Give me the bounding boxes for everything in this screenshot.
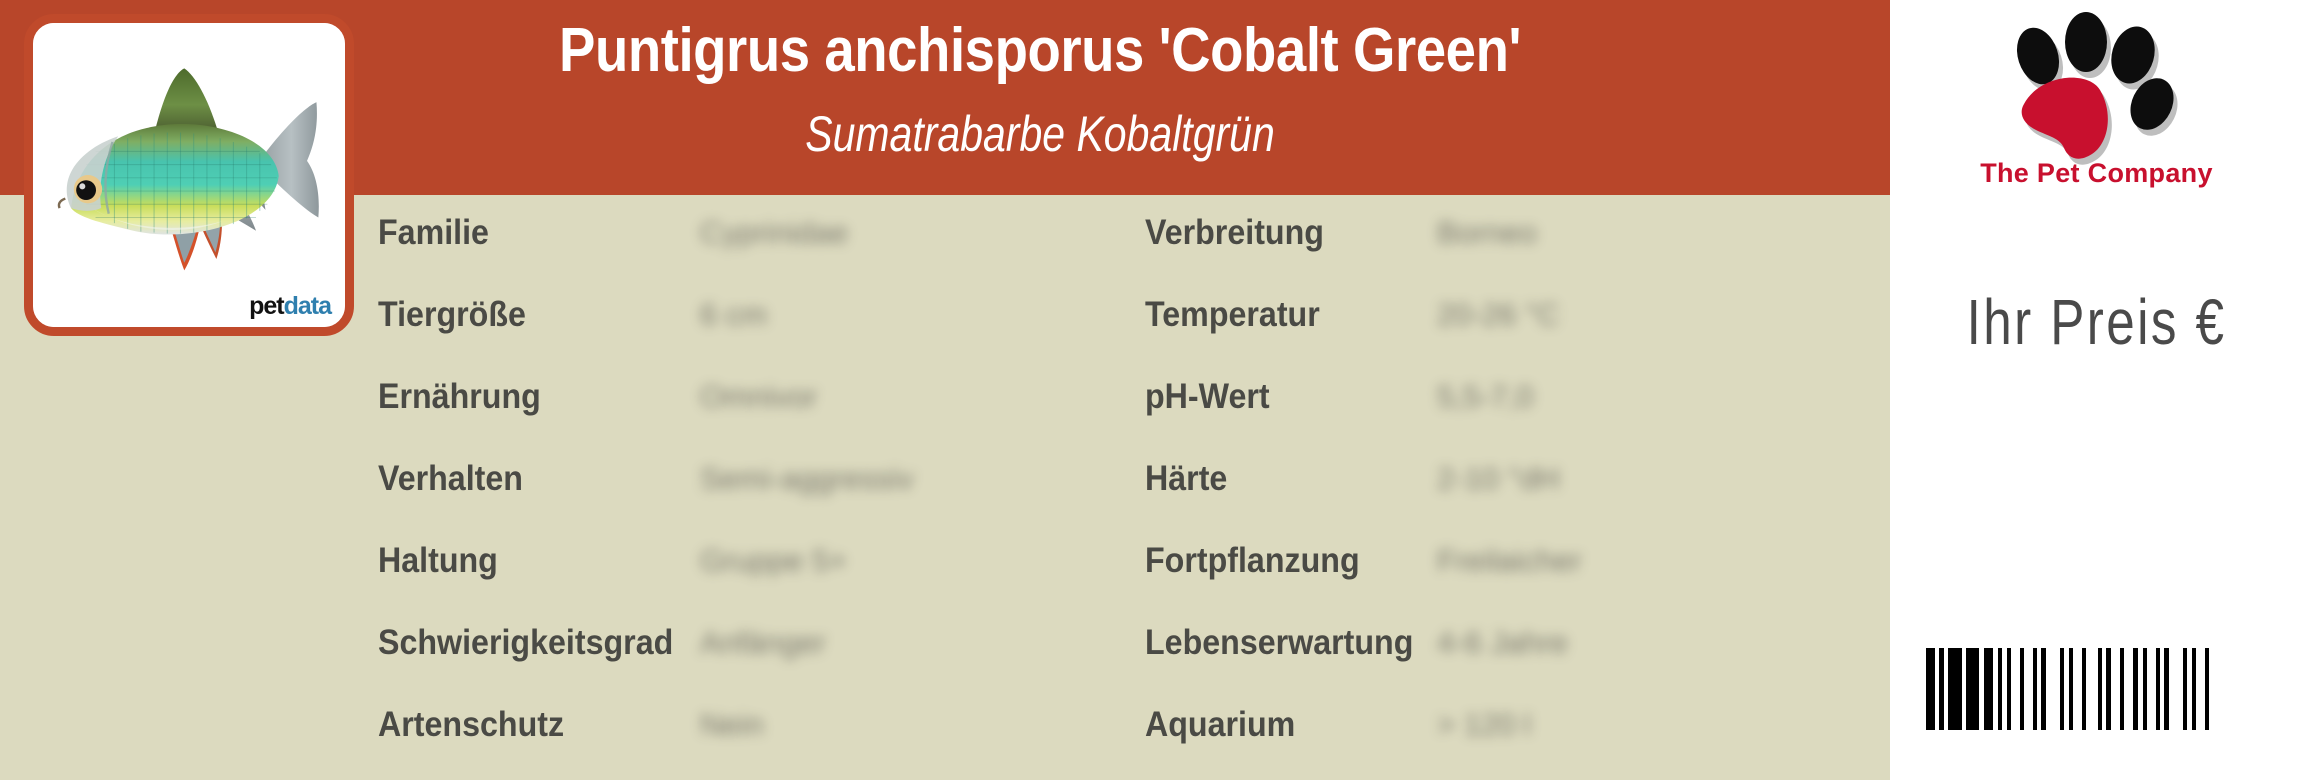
attribute-value: 6 cm [700,297,767,333]
barcode-bar [1966,648,1979,730]
attribute-label: Artenschutz [378,705,564,745]
barcode-bar [1984,648,1993,730]
petdata-pet-text: pet [249,292,284,320]
barcode-bar [2086,648,2098,730]
attribute-label: Verbreitung [1145,213,1324,253]
attribute-row: HaltungGruppe 5+ [378,523,1138,605]
price-label: Ihr Preis € [1931,285,2261,359]
attribute-label: Härte [1145,459,1227,499]
barcode-bar [2169,648,2183,730]
barcode-bar [2196,648,2205,730]
species-common-name: Sumatrabarbe Kobaltgrün [400,108,1679,161]
attribute-row: ErnährungOmnivor [378,359,1138,441]
attribute-label: Fortpflanzung [1145,541,1360,581]
barcode-bar [2011,648,2020,730]
barcode [1926,648,2266,730]
attribute-row: FamilieCyprinidae [378,195,1138,277]
barcode-bar [1926,648,1935,730]
attribute-value: Omnivor [700,379,817,415]
attribute-label: Schwierigkeitsgrad [378,623,673,663]
attributes-column-right: VerbreitungBorneoTemperatur20-26 °CpH-We… [1145,195,1885,769]
attribute-row: Härte2-10 °dH [1145,441,1885,523]
barcode-bar [2124,648,2133,730]
petdata-watermark: petdata [249,294,331,319]
price-panel: The Pet Company Ihr Preis € [1890,0,2303,780]
attribute-row: Aquarium> 120 l [1145,687,1885,769]
attribute-value: Semi-aggressiv [700,461,914,497]
barcode-bar [2147,648,2156,730]
attribute-value: 5,5-7,0 [1437,379,1534,415]
barcode-bar [2209,648,2213,730]
barcode-bar [2111,648,2120,730]
attribute-row: VerbreitungBorneo [1145,195,1885,277]
petdata-data-text: data [284,292,331,320]
attribute-row: FortpflanzungFreilaicher [1145,523,1885,605]
attribute-row: VerhaltenSemi-aggressiv [378,441,1138,523]
attribute-value: 2-10 °dH [1437,461,1560,497]
attribute-value: Freilaicher [1437,543,1582,579]
barcode-bar [2046,648,2060,730]
attribute-label: Temperatur [1145,295,1320,335]
attribute-row: ArtenschutzNein [378,687,1138,769]
attribute-row: pH-Wert5,5-7,0 [1145,359,1885,441]
attribute-row: Temperatur20-26 °C [1145,277,1885,359]
attributes-column-left: FamilieCyprinidaeTiergröße6 cmErnährungO… [378,195,1138,769]
pet-company-logo: The Pet Company [1890,8,2303,208]
barcode-bar [1948,648,1962,730]
attribute-value: 4-6 Jahre [1437,625,1568,661]
attribute-value: Cyprinidae [700,215,848,251]
attribute-row: Tiergröße6 cm [378,277,1138,359]
attribute-label: Tiergröße [378,295,526,335]
species-info-panel: Puntigrus anchisporus 'Cobalt Green' Sum… [0,0,1890,780]
attribute-label: Familie [378,213,489,253]
price-label-card: Puntigrus anchisporus 'Cobalt Green' Sum… [0,0,2303,780]
attribute-value: Nein [700,707,764,743]
attribute-value: Gruppe 5+ [700,543,847,579]
attribute-label: Verhalten [378,459,523,499]
attribute-label: Haltung [378,541,498,581]
barcode-bar [2073,648,2082,730]
fish-photo-icon [33,23,345,327]
attribute-label: pH-Wert [1145,377,1270,417]
attribute-row: Lebenserwartung4-6 Jahre [1145,605,1885,687]
attribute-label: Ernährung [378,377,541,417]
attribute-value: Anfänger [700,625,826,661]
brand-name: The Pet Company [1890,158,2303,189]
barcode-bar [2024,648,2033,730]
attribute-label: Lebenserwartung [1145,623,1413,663]
species-scientific-name: Puntigrus anchisporus 'Cobalt Green' [354,20,1727,82]
attribute-label: Aquarium [1145,705,1295,745]
attribute-value: > 120 l [1437,707,1531,743]
attribute-value: Borneo [1437,215,1537,251]
attribute-value: 20-26 °C [1437,297,1560,333]
species-photo-card: petdata [24,14,354,336]
attribute-row: SchwierigkeitsgradAnfänger [378,605,1138,687]
